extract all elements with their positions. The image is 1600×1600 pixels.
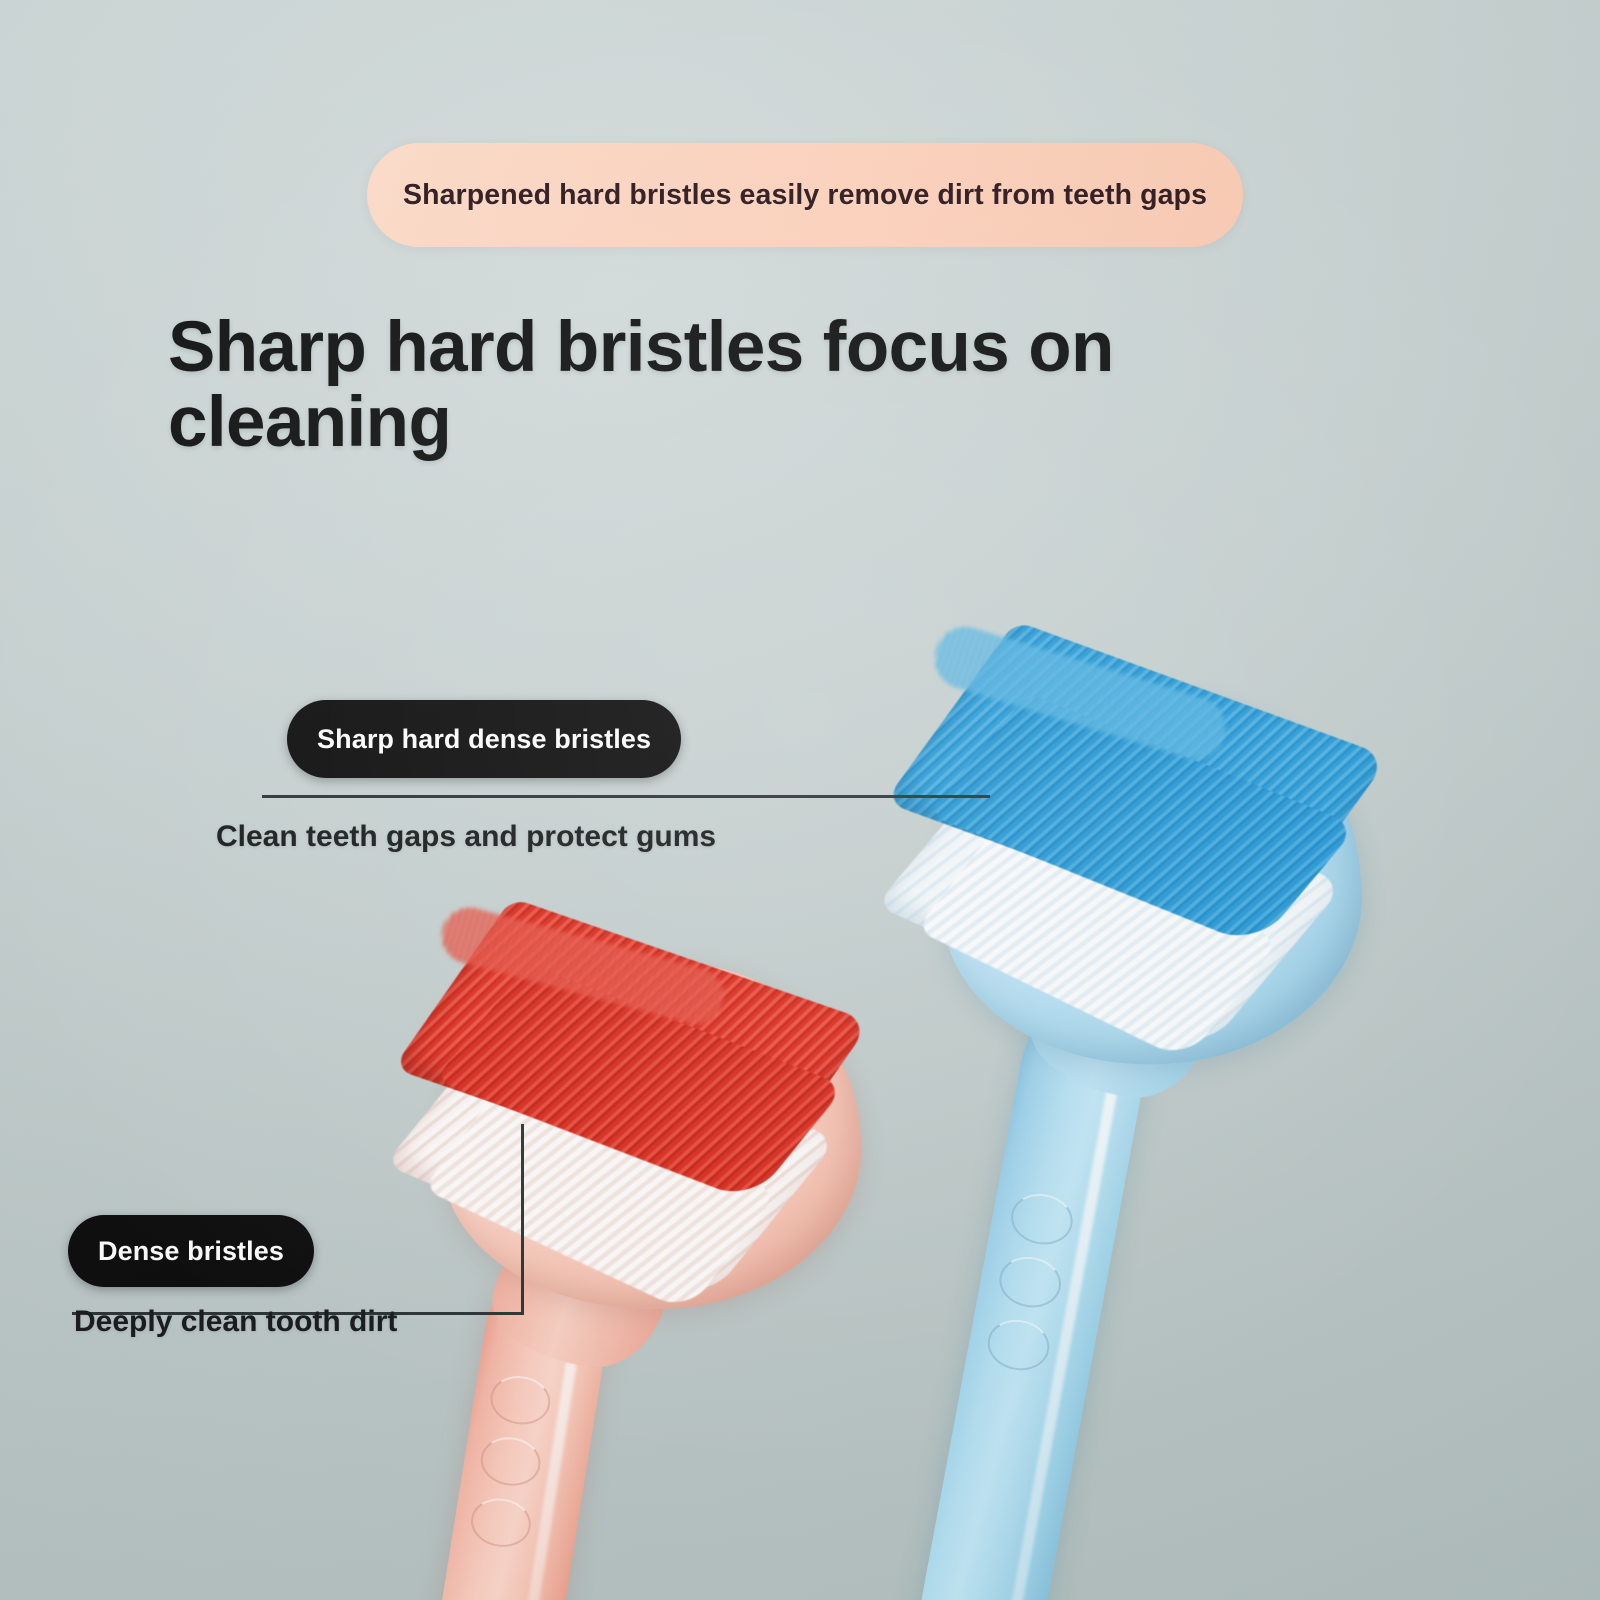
handle-grip-ridge [468,1494,535,1551]
handle-grip-ridge [983,1315,1053,1375]
callout-2-subtitle: Deeply clean tooth dirt [74,1305,397,1339]
top-banner: Sharpened hard bristles easily remove di… [367,143,1243,247]
top-banner-text: Sharpened hard bristles easily remove di… [403,179,1207,212]
callout-1-pill: Sharp hard dense bristles [287,700,681,778]
callout-2-leader-line-vertical [521,1124,524,1315]
handle-grip-ridge [477,1433,544,1490]
callout-1-leader-line [262,795,990,798]
handle-grip-ridge [1007,1189,1077,1249]
page-title: Sharp hard bristles focus on cleaning [168,310,1248,461]
handle-grip-ridge [487,1372,554,1429]
handle-grip-ridge [995,1252,1065,1312]
callout-1-label: Sharp hard dense bristles [317,724,651,755]
callout-2-label: Dense bristles [98,1236,284,1267]
callout-1-subtitle: Clean teeth gaps and protect gums [216,820,716,854]
callout-2-pill: Dense bristles [68,1215,314,1287]
product-feature-slide: Sharpened hard bristles easily remove di… [0,0,1600,1600]
blue-toothbrush-handle [903,1009,1152,1600]
